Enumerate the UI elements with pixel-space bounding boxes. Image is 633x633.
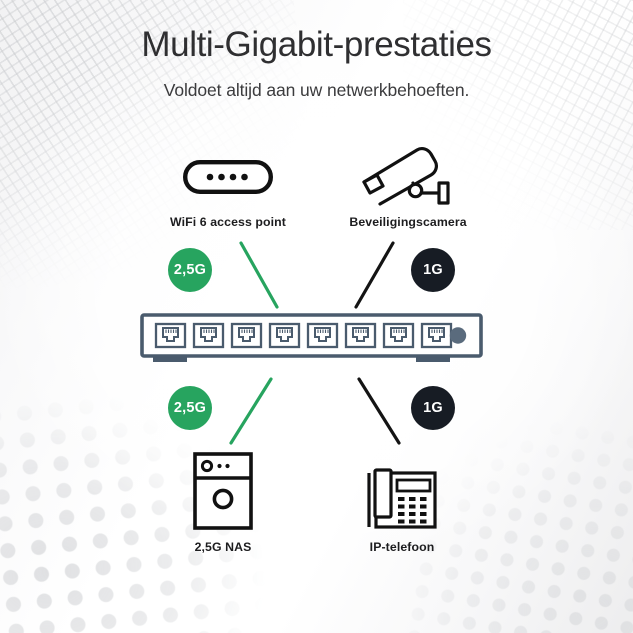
infographic-page: Multi-Gigabit-prestaties Voldoet altijd … [0,0,633,633]
label-nas: 2,5G NAS [133,540,313,554]
page-title: Multi-Gigabit-prestaties [0,24,633,67]
badge-speed-top-right: 1G [411,248,455,292]
nas-icon [193,452,253,530]
page-subtitle: Voldoet altijd aan uw netwerkbehoeften. [0,80,633,101]
access-point-icon [183,160,273,194]
link-line-bottom-right [356,376,404,446]
link-line-top-right [352,240,396,310]
label-ip-phone: IP-telefoon [312,540,492,554]
badge-speed-bottom-left: 2,5G [168,386,212,430]
link-line-top-left [238,240,280,310]
badge-speed-top-left: 2,5G [168,248,212,292]
header-block: Multi-Gigabit-prestaties Voldoet altijd … [0,24,633,101]
label-security-camera: Beveiligingscamera [296,215,520,229]
switch-status-indicator [450,327,466,343]
link-line-bottom-left [226,376,274,446]
security-camera-icon [355,150,461,212]
badge-speed-bottom-right: 1G [411,386,455,430]
ip-phone-icon [366,468,438,530]
network-switch [140,313,490,368]
